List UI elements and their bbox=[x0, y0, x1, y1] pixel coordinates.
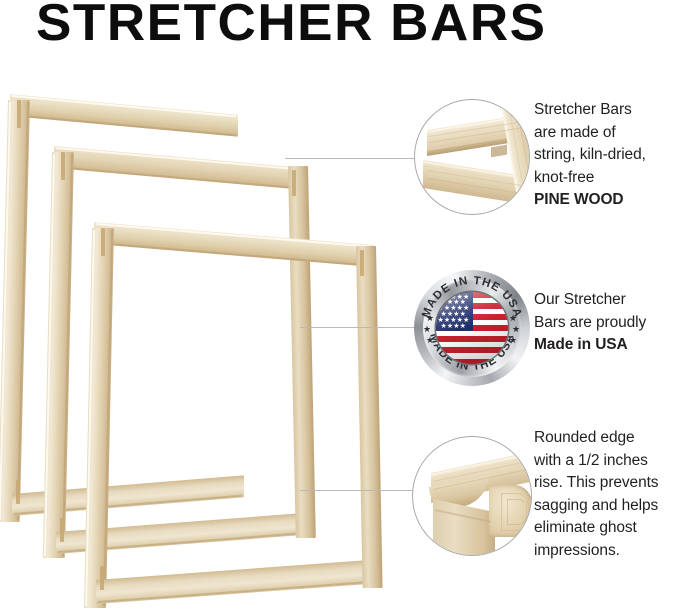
callout-line: Our Stretcher bbox=[534, 289, 679, 312]
callout-line-emphasis: Made in USA bbox=[534, 334, 679, 357]
rounded-edge-profile-photo bbox=[412, 436, 532, 556]
callout-line: with a 1/2 inches bbox=[534, 450, 679, 473]
connector-line-1 bbox=[285, 158, 421, 159]
callout-line: Bars are proudly bbox=[534, 312, 679, 335]
wood-corner-joint-photo bbox=[414, 99, 530, 215]
callout-line: Stretcher Bars bbox=[534, 99, 679, 122]
seal-star-left-upper: ★ bbox=[426, 314, 434, 323]
callout-line: Rounded edge bbox=[534, 427, 679, 450]
page-title: STRETCHER BARS bbox=[36, 0, 648, 50]
callout-line: string, kiln-dried, bbox=[534, 144, 679, 167]
seal-star-right-lower: ★ bbox=[509, 336, 517, 345]
callout-pine-wood: Stretcher Bars are made of string, kiln-… bbox=[534, 99, 679, 212]
made-in-usa-seal: MADE IN THE USA MADE IN THE USA ★ ★ ★ ★ … bbox=[414, 270, 530, 386]
connector-line-2 bbox=[300, 327, 418, 328]
callout-line: sagging and helps bbox=[534, 495, 679, 518]
callout-line: knot-free bbox=[534, 167, 679, 190]
stretcher-frame-small bbox=[88, 216, 384, 616]
callout-line: impressions. bbox=[534, 540, 679, 563]
seal-star-right-mid: ★ bbox=[512, 325, 520, 334]
connector-line-3 bbox=[300, 490, 418, 491]
seal-star-left-mid: ★ bbox=[423, 325, 431, 334]
callout-line-emphasis: PINE WOOD bbox=[534, 189, 679, 212]
seal-flag-face: ★ ★ ★ ★ ★ ★ ★ ★ ★ ★ ★ ★ ★ ★ ★ ★ ★ bbox=[436, 292, 508, 364]
seal-star-left-lower: ★ bbox=[426, 336, 434, 345]
callout-line: rise. This prevents bbox=[534, 472, 679, 495]
seal-star-right-upper: ★ bbox=[509, 314, 517, 323]
corner-joint-art bbox=[415, 100, 529, 214]
profile-art bbox=[413, 437, 531, 555]
infographic-canvas: STRETCHER BARS bbox=[0, 0, 679, 557]
seal-gloss-highlight bbox=[436, 292, 508, 364]
callout-made-in-usa: Our Stretcher Bars are proudly Made in U… bbox=[534, 289, 679, 357]
callout-line: eliminate ghost bbox=[534, 517, 679, 540]
callout-line: are made of bbox=[534, 122, 679, 145]
callout-rounded-edge: Rounded edge with a 1/2 inches rise. Thi… bbox=[534, 427, 679, 562]
